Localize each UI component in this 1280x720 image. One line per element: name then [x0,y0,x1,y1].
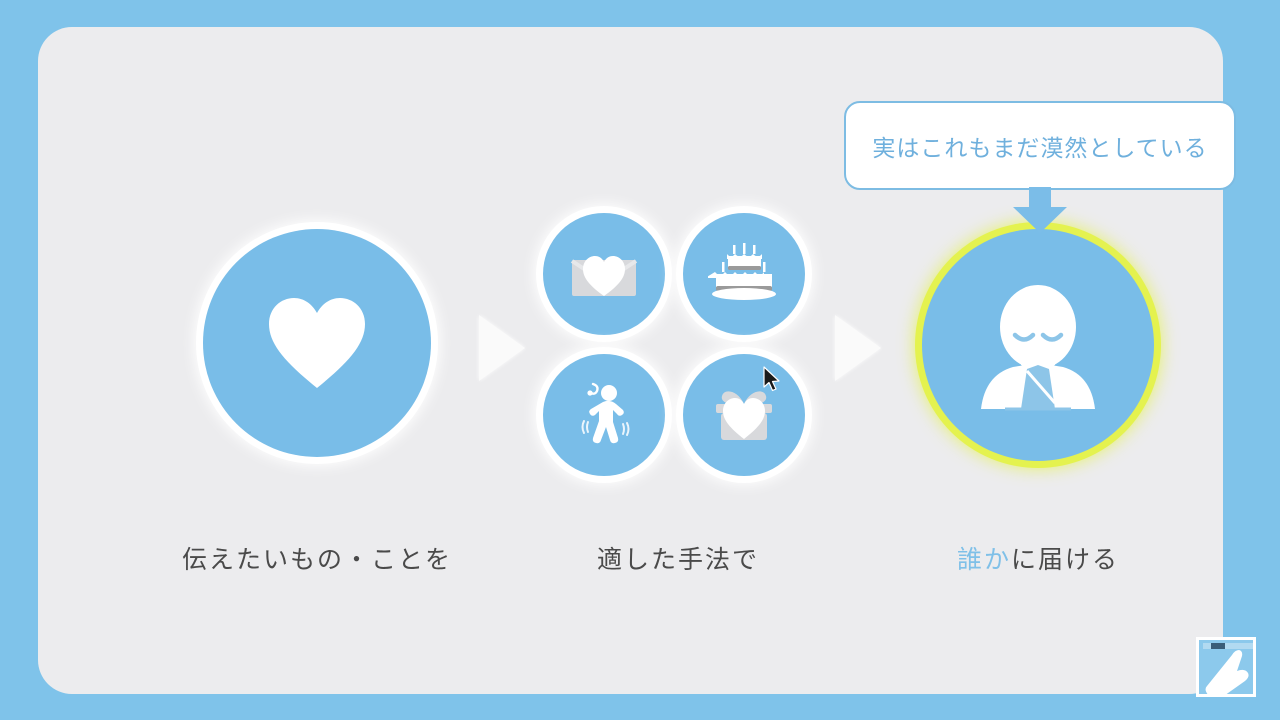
callout-box: 実はこれもまだ漠然としている [844,101,1236,190]
circle-love-letter[interactable] [543,213,665,335]
caption-audience-highlight: 誰か [957,546,1011,574]
caption-method: 適した手法で [488,540,868,576]
arrow-down-icon [1013,187,1067,233]
circle-cake[interactable] [683,213,805,335]
heart-icon [265,296,369,390]
brand-logo [1196,637,1256,697]
caption-audience-rest: に届ける [1011,546,1119,574]
circle-dancing-person[interactable] [543,354,665,476]
circle-person[interactable] [922,229,1154,461]
caption-audience: 誰かに届ける [838,540,1238,576]
arrow-down-shaft [1029,187,1051,209]
love-letter-icon [570,248,638,300]
arrow-down-head [1013,207,1067,233]
icon-cluster [543,213,813,483]
cake-icon [708,243,780,305]
slide-card: 実はこれもまだ漠然としている 伝えたいもの・ことを 適した手法で 誰かに届ける [38,27,1223,694]
circle-heart[interactable] [203,229,431,457]
arrow-right-icon-1 [479,315,525,381]
person-icon [971,279,1105,411]
dancing-person-icon [573,380,635,450]
slide-root: 実はこれもまだ漠然としている 伝えたいもの・ことを 適した手法で 誰かに届ける [0,0,1280,720]
mouse-cursor [762,366,782,394]
arrow-right-icon-2 [835,315,881,381]
callout-text: 実はこれもまだ漠然としている [872,129,1207,163]
circle-gift[interactable] [683,354,805,476]
